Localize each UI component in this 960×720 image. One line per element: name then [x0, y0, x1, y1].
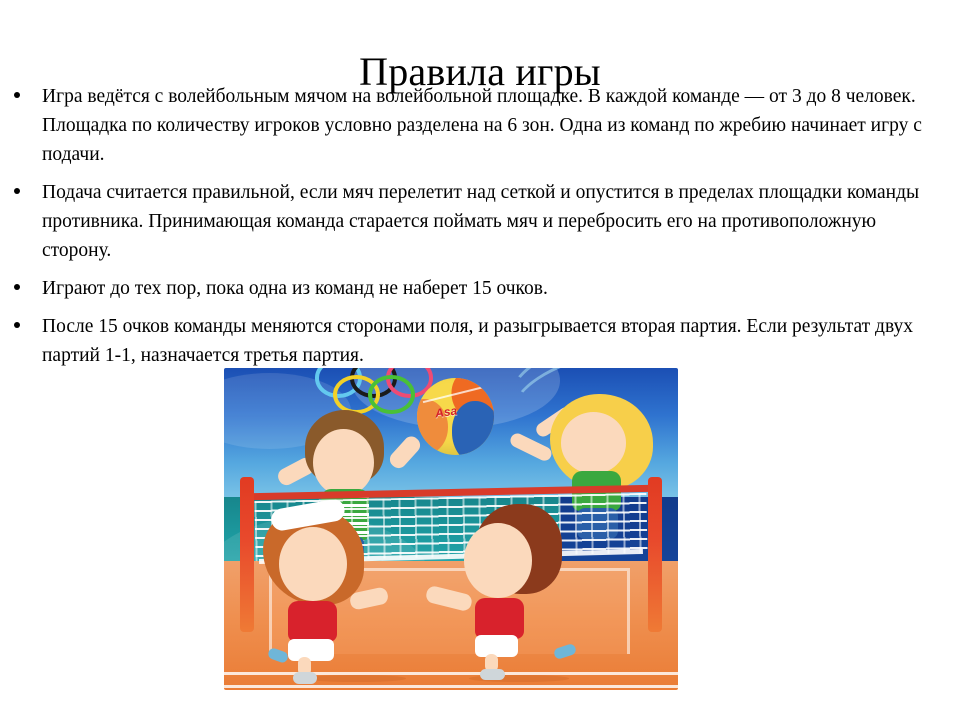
list-item-text: Играют до тех пор, пока одна из команд н…: [42, 274, 946, 303]
player-head: [464, 523, 532, 598]
list-item: Игра ведётся с волейбольным мячом на вол…: [8, 82, 946, 169]
volleyball-illustration: Asa: [224, 368, 678, 690]
rules-list: Игра ведётся с волейбольным мячом на вол…: [8, 82, 946, 379]
list-item-text: Игра ведётся с волейбольным мячом на вол…: [42, 82, 946, 169]
bullet-dot-icon: [14, 284, 20, 290]
list-item: После 15 очков команды меняются сторонам…: [8, 312, 946, 370]
slide: Правила игры Игра ведётся с волейбольным…: [0, 0, 960, 720]
volleyball-icon: Asa: [417, 378, 494, 455]
list-item-text: Подача считается правильной, если мяч пе…: [42, 178, 946, 265]
list-item: Играют до тех пор, пока одна из команд н…: [8, 274, 946, 303]
player-boy-red-front: [442, 497, 578, 684]
player-shorts: [475, 635, 519, 657]
net-post-right: [648, 477, 662, 632]
net-post-left: [240, 477, 254, 632]
player-shoe: [552, 643, 576, 660]
player-arm: [508, 431, 553, 463]
list-item: Подача считается правильной, если мяч пе…: [8, 178, 946, 265]
player-shorts: [288, 639, 334, 661]
bullet-dot-icon: [14, 92, 20, 98]
court-line: [224, 685, 678, 688]
list-item-text: После 15 очков команды меняются сторонам…: [42, 312, 946, 370]
player-head: [561, 412, 626, 474]
bullet-dot-icon: [14, 322, 20, 328]
player-shoe: [293, 672, 318, 683]
player-shirt: [475, 598, 524, 639]
player-shoe: [480, 669, 505, 680]
player-shirt: [288, 601, 337, 642]
player-girl-red-front: [260, 497, 396, 684]
player-shoe: [267, 647, 290, 665]
bullet-dot-icon: [14, 188, 20, 194]
